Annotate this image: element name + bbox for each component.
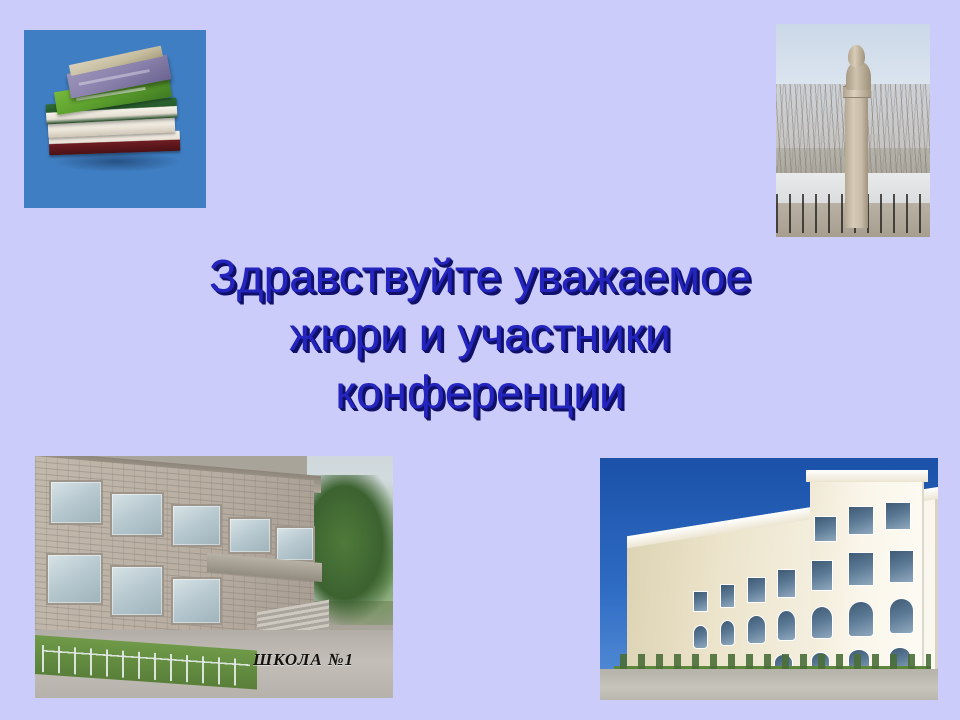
building-arched-window [777, 610, 796, 641]
building-arched-window [720, 620, 736, 646]
building-plaza [600, 669, 938, 700]
gymnasium-building-photo [600, 458, 938, 700]
building-window [747, 577, 766, 603]
school-window [49, 480, 103, 525]
building-arched-window [693, 625, 709, 649]
building-tower-cornice [806, 470, 928, 482]
building-window [814, 516, 836, 542]
building-arched-window [848, 601, 874, 637]
school-window [110, 565, 164, 617]
monument-pedestal [845, 88, 868, 229]
school-window [228, 517, 271, 555]
school-window [110, 492, 164, 537]
stack-of-books-photo [24, 30, 206, 208]
building-window [811, 560, 833, 591]
building-window [720, 584, 736, 608]
building-window [889, 550, 915, 583]
building-arched-window [747, 615, 766, 644]
monument-bust-photo [776, 24, 930, 237]
building-window [777, 569, 796, 598]
school-window [275, 526, 315, 561]
building-window [693, 591, 709, 612]
school-window [171, 504, 222, 547]
monument-bust-head [848, 45, 865, 66]
school-window [171, 577, 222, 625]
building-arched-window [889, 598, 915, 634]
presentation-slide: Здравствуйте уважаемое жюри и участники … [0, 0, 960, 720]
slide-title: Здравствуйте уважаемое жюри и участники … [90, 247, 870, 421]
books-shadow [53, 151, 180, 172]
school-building-photo: ШКОЛА №1 [35, 456, 393, 698]
building-arched-window [811, 606, 833, 639]
building-window [848, 552, 874, 585]
building-window [885, 502, 911, 531]
school-window [46, 553, 104, 605]
building-window [848, 506, 874, 535]
school-photo-caption: ШКОЛА №1 [221, 650, 386, 670]
